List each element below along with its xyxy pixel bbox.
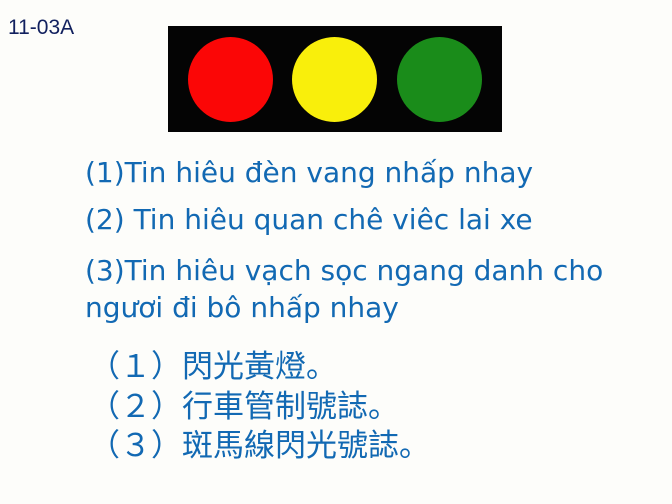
chinese-option-3: （３）斑馬線閃光號誌。: [89, 427, 659, 467]
reference-code-label: 11-03A: [8, 17, 74, 38]
yellow-lamp-icon: [292, 37, 377, 122]
vietnamese-option-3: (3)Tin hiêu vạch sọc ngang danh cho ngươ…: [85, 253, 645, 327]
chinese-option-1: （１）閃光黃燈。: [89, 348, 659, 388]
vietnamese-option-1: (1)Tin hiêu đèn vang nhấp nhay: [85, 159, 645, 187]
green-lamp-icon: [397, 37, 482, 122]
chinese-option-2: （２）行車管制號誌。: [89, 388, 659, 428]
vietnamese-answer-list: (1)Tin hiêu đèn vang nhấp nhay (2) Tin h…: [85, 159, 645, 327]
traffic-light-figure: [168, 26, 502, 132]
red-lamp-icon: [188, 37, 273, 122]
slide-canvas: 11-03A (1)Tin hiêu đèn vang nhấp nhay (2…: [0, 0, 672, 504]
vietnamese-option-2: (2) Tin hiêu quan chê viêc lai xe: [85, 206, 645, 234]
chinese-answer-list: （１）閃光黃燈。 （２）行車管制號誌。 （３）斑馬線閃光號誌。: [89, 348, 659, 467]
